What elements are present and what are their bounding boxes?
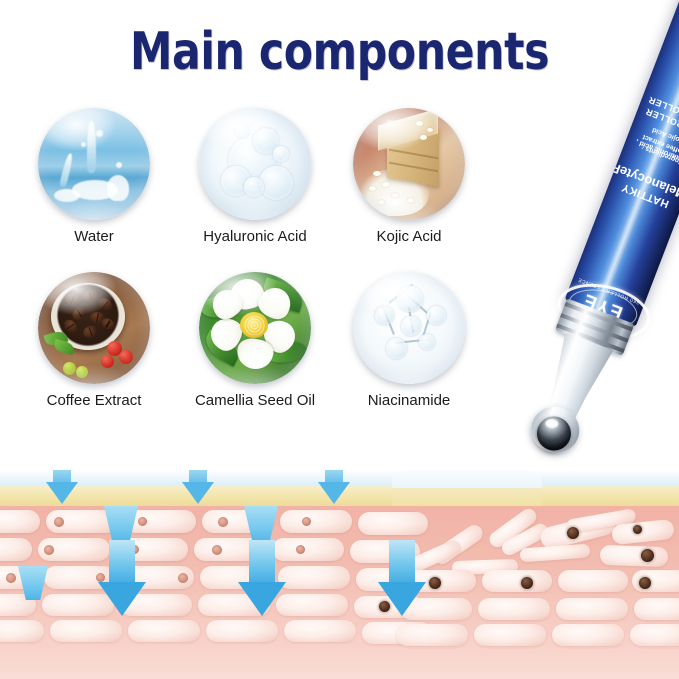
ingredient-label: Camellia Seed Oil bbox=[193, 392, 317, 409]
ingredient-label: Coffee Extract bbox=[32, 392, 156, 409]
skin-cross-section-diagram bbox=[0, 470, 679, 679]
absorption-arrow bbox=[46, 470, 78, 504]
product-infographic: Main components Water bbox=[0, 0, 679, 679]
ingredient-label: Water bbox=[32, 228, 156, 245]
absorption-arrow bbox=[182, 470, 214, 504]
melanin-spot bbox=[520, 576, 534, 590]
water-bubble-icon bbox=[199, 108, 311, 220]
melanin-spot bbox=[640, 548, 655, 563]
ingredient-kojic-acid: Kojic Acid bbox=[347, 108, 471, 245]
ingredient-label: Kojic Acid bbox=[347, 228, 471, 245]
absorption-arrow bbox=[318, 470, 350, 504]
camellia-flower-icon bbox=[199, 272, 311, 384]
melanin-spot bbox=[428, 576, 442, 590]
ingredient-water: Water bbox=[32, 108, 156, 245]
ingredient-coffee-extract: Coffee Extract bbox=[32, 272, 156, 409]
rice-masu-box-icon bbox=[353, 108, 465, 220]
melanin-spot bbox=[632, 524, 643, 535]
deep-absorption-arrow bbox=[378, 540, 426, 618]
ingredient-label: Hyaluronic Acid bbox=[193, 228, 317, 245]
ingredient-hyaluronic-acid: Hyaluronic Acid bbox=[193, 108, 317, 245]
melanin-spot bbox=[566, 526, 580, 540]
coffee-beans-bowl-icon bbox=[38, 272, 150, 384]
melanin-spot bbox=[638, 576, 652, 590]
deep-absorption-arrow bbox=[98, 540, 146, 618]
ingredient-camellia-seed-oil: Camellia Seed Oil bbox=[193, 272, 317, 409]
product-tube: EYE ROLLER 360 ROLLER Kojic Acid Hyaluro… bbox=[455, 58, 679, 508]
deep-absorption-arrow bbox=[238, 540, 286, 618]
water-splash-icon bbox=[38, 108, 150, 220]
